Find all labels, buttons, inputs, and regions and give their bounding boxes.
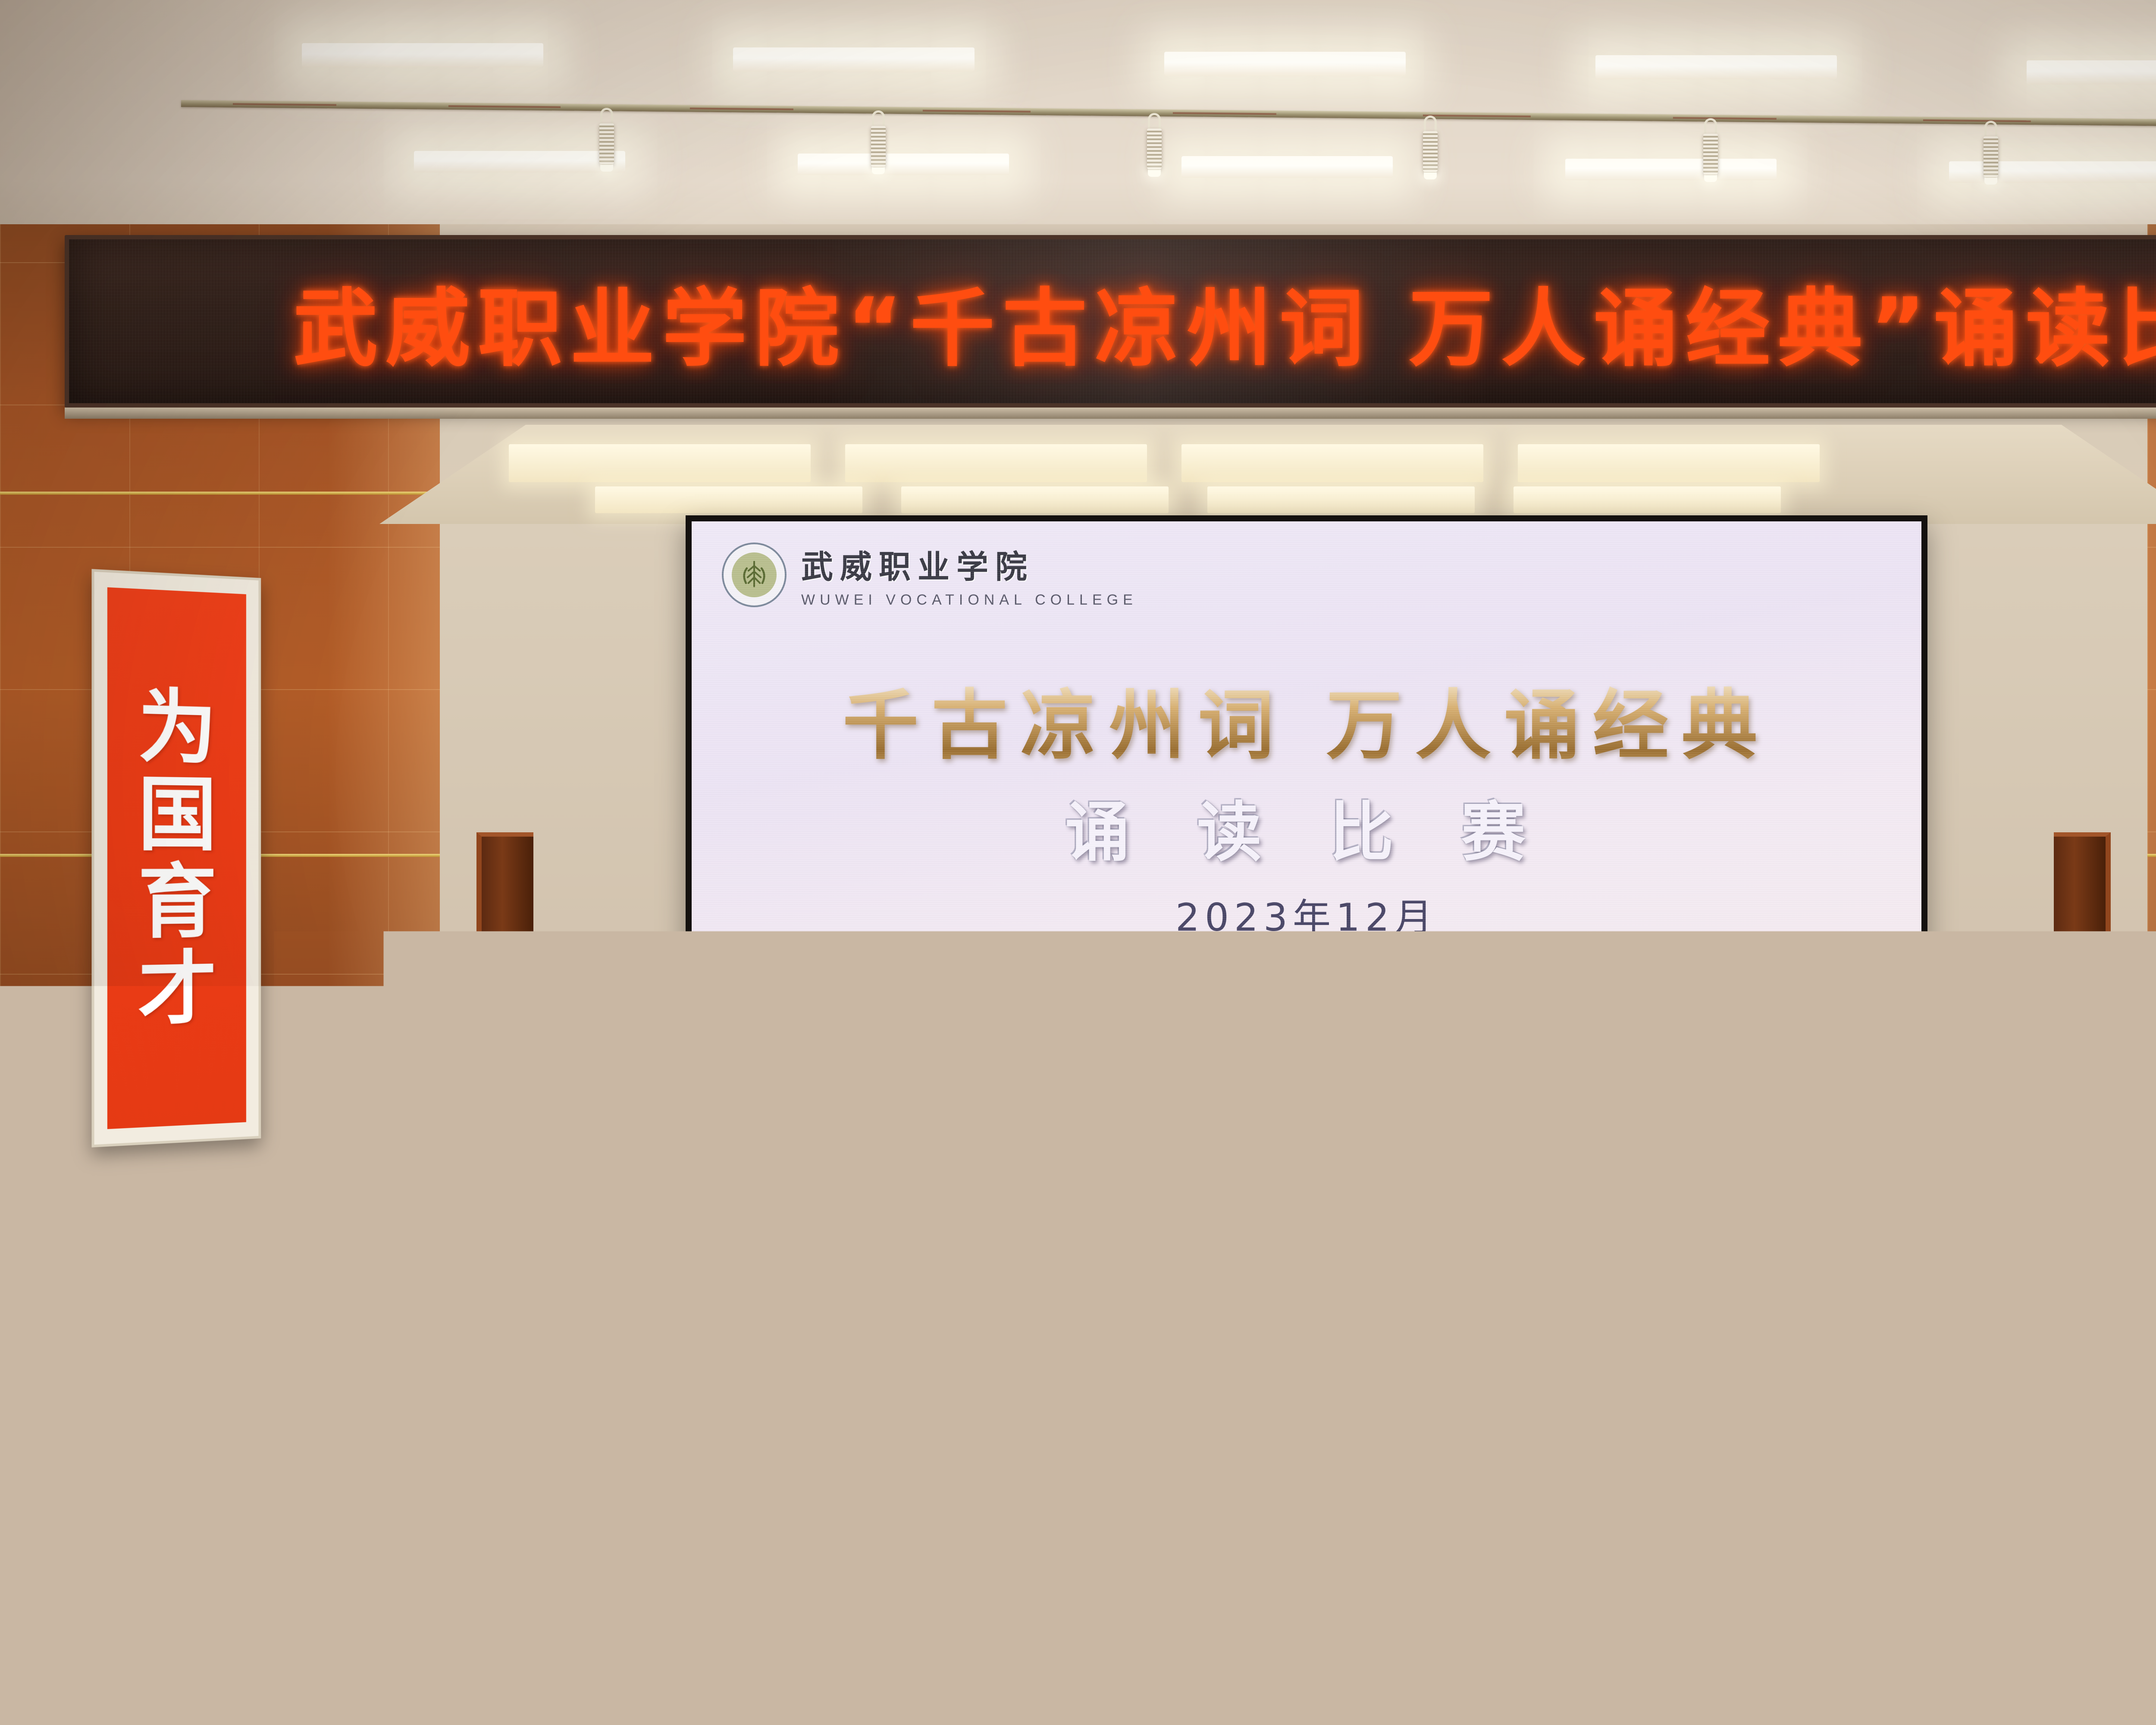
chair[interactable]: [1514, 1342, 1626, 1416]
soffit-light-panel: [595, 486, 862, 513]
audience-head: [733, 1320, 807, 1405]
audience-head: [772, 1452, 863, 1559]
slide-date: 2023年12月: [692, 887, 1921, 942]
chair[interactable]: [0, 1406, 103, 1490]
female-host-cue-card: [1332, 1069, 1387, 1089]
college-emblem-icon: [722, 543, 787, 607]
ceiling-light: [1565, 159, 1777, 180]
audience-head: [578, 1533, 680, 1653]
couplet-scroll-left: 为 国 育 才: [92, 569, 261, 1147]
soffit-light-panel: [1518, 444, 1820, 482]
chair[interactable]: [1794, 1483, 1940, 1578]
stage-spotlight: [871, 110, 886, 174]
soffit-light-panel: [845, 444, 1147, 482]
soffit-light-panel: [901, 486, 1169, 513]
audience-head: [1552, 1266, 1622, 1345]
audience-head: [2130, 1322, 2156, 1408]
soffit-light-panel: [1514, 486, 1781, 513]
scroll-left-char: 育: [138, 862, 217, 943]
chair[interactable]: [1272, 1287, 1371, 1352]
chair[interactable]: [0, 1660, 78, 1725]
chair[interactable]: [0, 1565, 82, 1674]
audience-head: [552, 1265, 621, 1344]
lighting-truss: [181, 100, 2156, 128]
audience-head: [608, 1222, 673, 1295]
audience-head: [1587, 1452, 1678, 1559]
chair[interactable]: [414, 1663, 612, 1725]
ceiling-shadow-left: [0, 0, 388, 241]
stage-spotlight: [1423, 116, 1438, 179]
chair[interactable]: [612, 1288, 711, 1352]
ceiling-light: [1949, 161, 2156, 183]
chair[interactable]: [1802, 1408, 1932, 1493]
audience-head: [1078, 1319, 1153, 1405]
audience-head: [1488, 1530, 1590, 1651]
soffit-light-panel: [1181, 444, 1483, 482]
soffit-light-panel: [1207, 486, 1475, 513]
slide-subtitle: 诵 读 比 赛: [692, 780, 1921, 874]
auditorium-scene: 武威职业学院“千古凉州词 万人诵经典”诵读比赛: [0, 0, 2156, 1725]
audience-head: [129, 1379, 212, 1475]
led-banner-text: 武威职业学院“千古凉州词 万人诵经典”诵读比赛: [69, 239, 2156, 403]
audience-head: [1432, 1320, 1507, 1407]
chair[interactable]: [1475, 1659, 1673, 1725]
college-name-en: WUWEI VOCATIONAL COLLEGE: [801, 592, 1138, 608]
ceiling-light: [1164, 52, 1406, 76]
wall-gold-trim-right-2: [2147, 854, 2156, 857]
male-host-leg: [1189, 1151, 1221, 1276]
chair[interactable]: [1863, 1344, 1975, 1418]
audience-head: [65, 1320, 140, 1406]
scroll-left-char: 为: [138, 686, 217, 768]
stage-spotlight: [599, 108, 614, 172]
scroll-left-char: 国: [138, 774, 217, 855]
chair[interactable]: [1432, 1407, 1561, 1491]
audience-head: [1824, 1224, 1889, 1298]
audience-head: [888, 1267, 956, 1345]
audience-head: [1781, 1321, 1856, 1408]
male-host: [1138, 936, 1233, 1294]
stage-spotlight: [1984, 121, 1998, 185]
chair[interactable]: [302, 1285, 401, 1350]
chair[interactable]: [1065, 1408, 1194, 1492]
audience-head: [1177, 1451, 1268, 1557]
audience-head: [229, 1268, 298, 1345]
stage-spotlight: [1147, 113, 1162, 177]
scroll-left-char: 才: [138, 948, 217, 1030]
stage-spotlight: [1703, 118, 1718, 182]
soffit-light-panel: [509, 444, 811, 482]
audience-head: [349, 1449, 441, 1556]
chair[interactable]: [1923, 1288, 2022, 1352]
banner-ledge: [65, 408, 2156, 419]
college-name-cn: 武威职业学院: [801, 541, 1138, 587]
chair[interactable]: [358, 1568, 526, 1677]
male-host-cue-card: [1156, 1105, 1212, 1125]
audience-head: [1940, 1532, 2044, 1653]
led-headline-banner: 武威职业学院“千古凉州词 万人诵经典”诵读比赛: [65, 235, 2156, 408]
audience-head: [1035, 1531, 1138, 1653]
ceiling-light: [733, 47, 975, 72]
chair[interactable]: [1233, 1239, 1319, 1295]
male-host-leg: [1153, 1151, 1185, 1276]
ceiling-light: [414, 151, 625, 172]
tree-emblem-icon: [738, 558, 771, 591]
audience-head: [121, 1531, 224, 1653]
chair[interactable]: [2009, 1661, 2156, 1725]
ceiling-light: [1181, 156, 1393, 178]
ceiling-light: [2027, 60, 2156, 85]
audience-head: [388, 1318, 464, 1405]
chair[interactable]: [0, 1479, 95, 1575]
female-host-head: [1310, 952, 1356, 1007]
male-host-head: [1163, 947, 1209, 1002]
ceiling-light: [1595, 55, 1837, 79]
audience-seating: [0, 1264, 2156, 1725]
chair[interactable]: [944, 1660, 1143, 1725]
audience-head: [1427, 1226, 1494, 1300]
audience-head: [862, 1380, 945, 1476]
college-logo: 武威职业学院 WUWEI VOCATIONAL COLLEGE: [722, 541, 1138, 608]
slide-main-title: 千古凉州词 万人诵经典: [692, 664, 1921, 774]
ceiling-light: [798, 154, 1009, 175]
wall-gold-trim-left: [0, 492, 440, 495]
ceiling: [0, 0, 2156, 241]
audience-head: [500, 1381, 582, 1476]
